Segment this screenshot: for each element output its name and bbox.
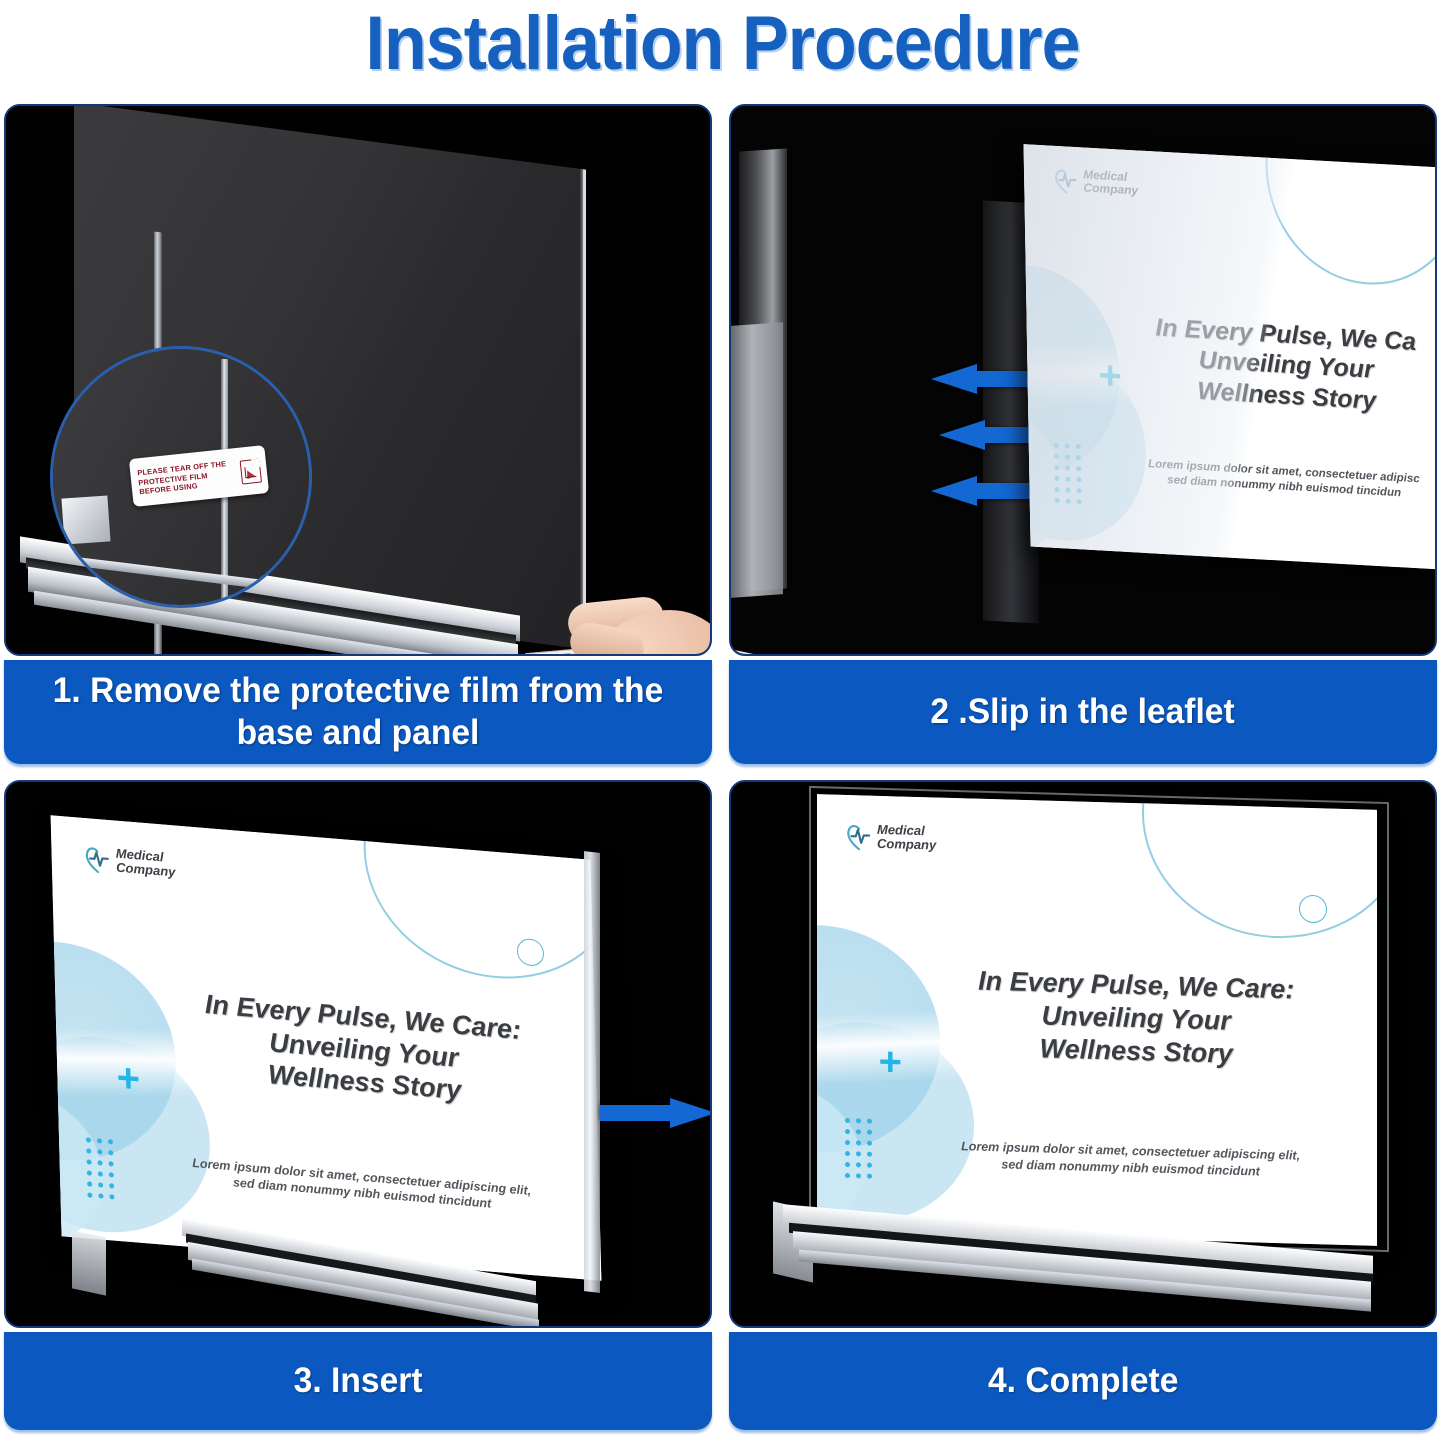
dot-grid-pattern [1054,443,1082,505]
warning-sticker-text: PLEASE TEAR OFF THE PROTECTIVE FILM BEFO… [137,458,238,497]
leaflet-headline: In Every Pulse, We Care: Unveiling Your … [907,962,1366,1074]
plus-icon: + [116,1056,141,1103]
plus-icon: + [879,1040,902,1086]
step-1-caption-text: 1. Remove the protective film from the b… [45,670,671,754]
steps-grid: PLEASE TEAR OFF THE PROTECTIVE FILM BEFO… [0,104,1445,1436]
acrylic-front-panel-edge [584,851,600,1293]
medical-company-logo: Medical Company [1053,166,1138,199]
logo-text: Medical Company [877,823,936,852]
step-2-caption-text: 2 .Slip in the leaflet [931,691,1235,733]
peel-film-icon [240,458,262,484]
page-title: Installation Procedure [58,2,1387,86]
step-4-photo: Medical Company In Every Pulse, We Care:… [729,780,1437,1328]
arrow-right-icon [600,1098,712,1128]
magnifier-callout-circle: PLEASE TEAR OFF THE PROTECTIVE FILM BEFO… [50,346,312,608]
decorative-small-ring [1299,895,1327,924]
dot-grid-pattern [86,1137,115,1199]
medical-company-logo: Medical Company [84,843,176,881]
heart-pulse-icon [84,843,113,875]
step-2-photo: Medical Company In Every Pulse, We Ca Un… [729,104,1437,656]
step-3-caption-text: 3. Insert [294,1361,423,1401]
leaflet-headline: In Every Pulse, We Care: Unveiling Your … [141,982,586,1118]
leaflet-artwork: Medical Company In Every Pulse, We Care:… [51,815,602,1281]
decorative-circle-outline [1142,794,1377,941]
step-card-3: Medical Company In Every Pulse, We Care:… [4,780,712,1430]
leaflet-in-holder: Medical Company In Every Pulse, We Care:… [51,815,602,1281]
heart-pulse-icon [845,821,873,852]
leaflet-body-text: Lorem ipsum dolor sit amet, consectetuer… [1121,455,1437,504]
installation-procedure-infographic: Installation Procedure [0,0,1445,1436]
leaflet-headline: In Every Pulse, We Ca Unveiling Your Wel… [1127,311,1437,420]
step-4-caption-text: 4. Complete [988,1361,1178,1401]
leaflet-being-inserted: Medical Company In Every Pulse, We Ca Un… [1024,144,1437,570]
leaflet-body-text: Lorem ipsum dolor sit amet, consectetuer… [895,1136,1365,1182]
peel-arrow-icon [243,470,255,481]
logo-text: Medical Company [1083,169,1138,198]
step-2-caption: 2 .Slip in the leaflet [729,660,1437,764]
hand-peeling-film [562,586,712,656]
dot-grid-pattern [845,1118,872,1179]
medical-company-logo: Medical Company [845,821,936,854]
step-card-1: PLEASE TEAR OFF THE PROTECTIVE FILM BEFO… [4,104,712,764]
step-card-4: Medical Company In Every Pulse, We Care:… [729,780,1437,1430]
acrylic-stand-left-highlight [731,322,783,598]
magnified-film-corner [61,495,110,544]
logo-text: Medical Company [116,847,176,879]
leaflet-installed: Medical Company In Every Pulse, We Care:… [817,794,1377,1246]
step-3-caption: 3. Insert [4,1332,712,1430]
acrylic-foot [72,1230,106,1295]
leaflet-body-text: Lorem ipsum dolor sit amet, consectetuer… [135,1150,589,1220]
leaflet-artwork: Medical Company In Every Pulse, We Care:… [817,794,1377,1246]
step-3-photo: Medical Company In Every Pulse, We Care:… [4,780,712,1328]
step-card-2: Medical Company In Every Pulse, We Ca Un… [729,104,1437,764]
decorative-circle-outline [1264,144,1437,290]
step-1-photo: PLEASE TEAR OFF THE PROTECTIVE FILM BEFO… [4,104,712,656]
plus-icon: + [1098,353,1122,399]
step-4-caption: 4. Complete [729,1332,1437,1430]
heart-pulse-icon [1053,166,1079,195]
step-1-caption: 1. Remove the protective film from the b… [4,660,712,764]
leaflet-artwork: Medical Company In Every Pulse, We Ca Un… [1024,144,1437,570]
